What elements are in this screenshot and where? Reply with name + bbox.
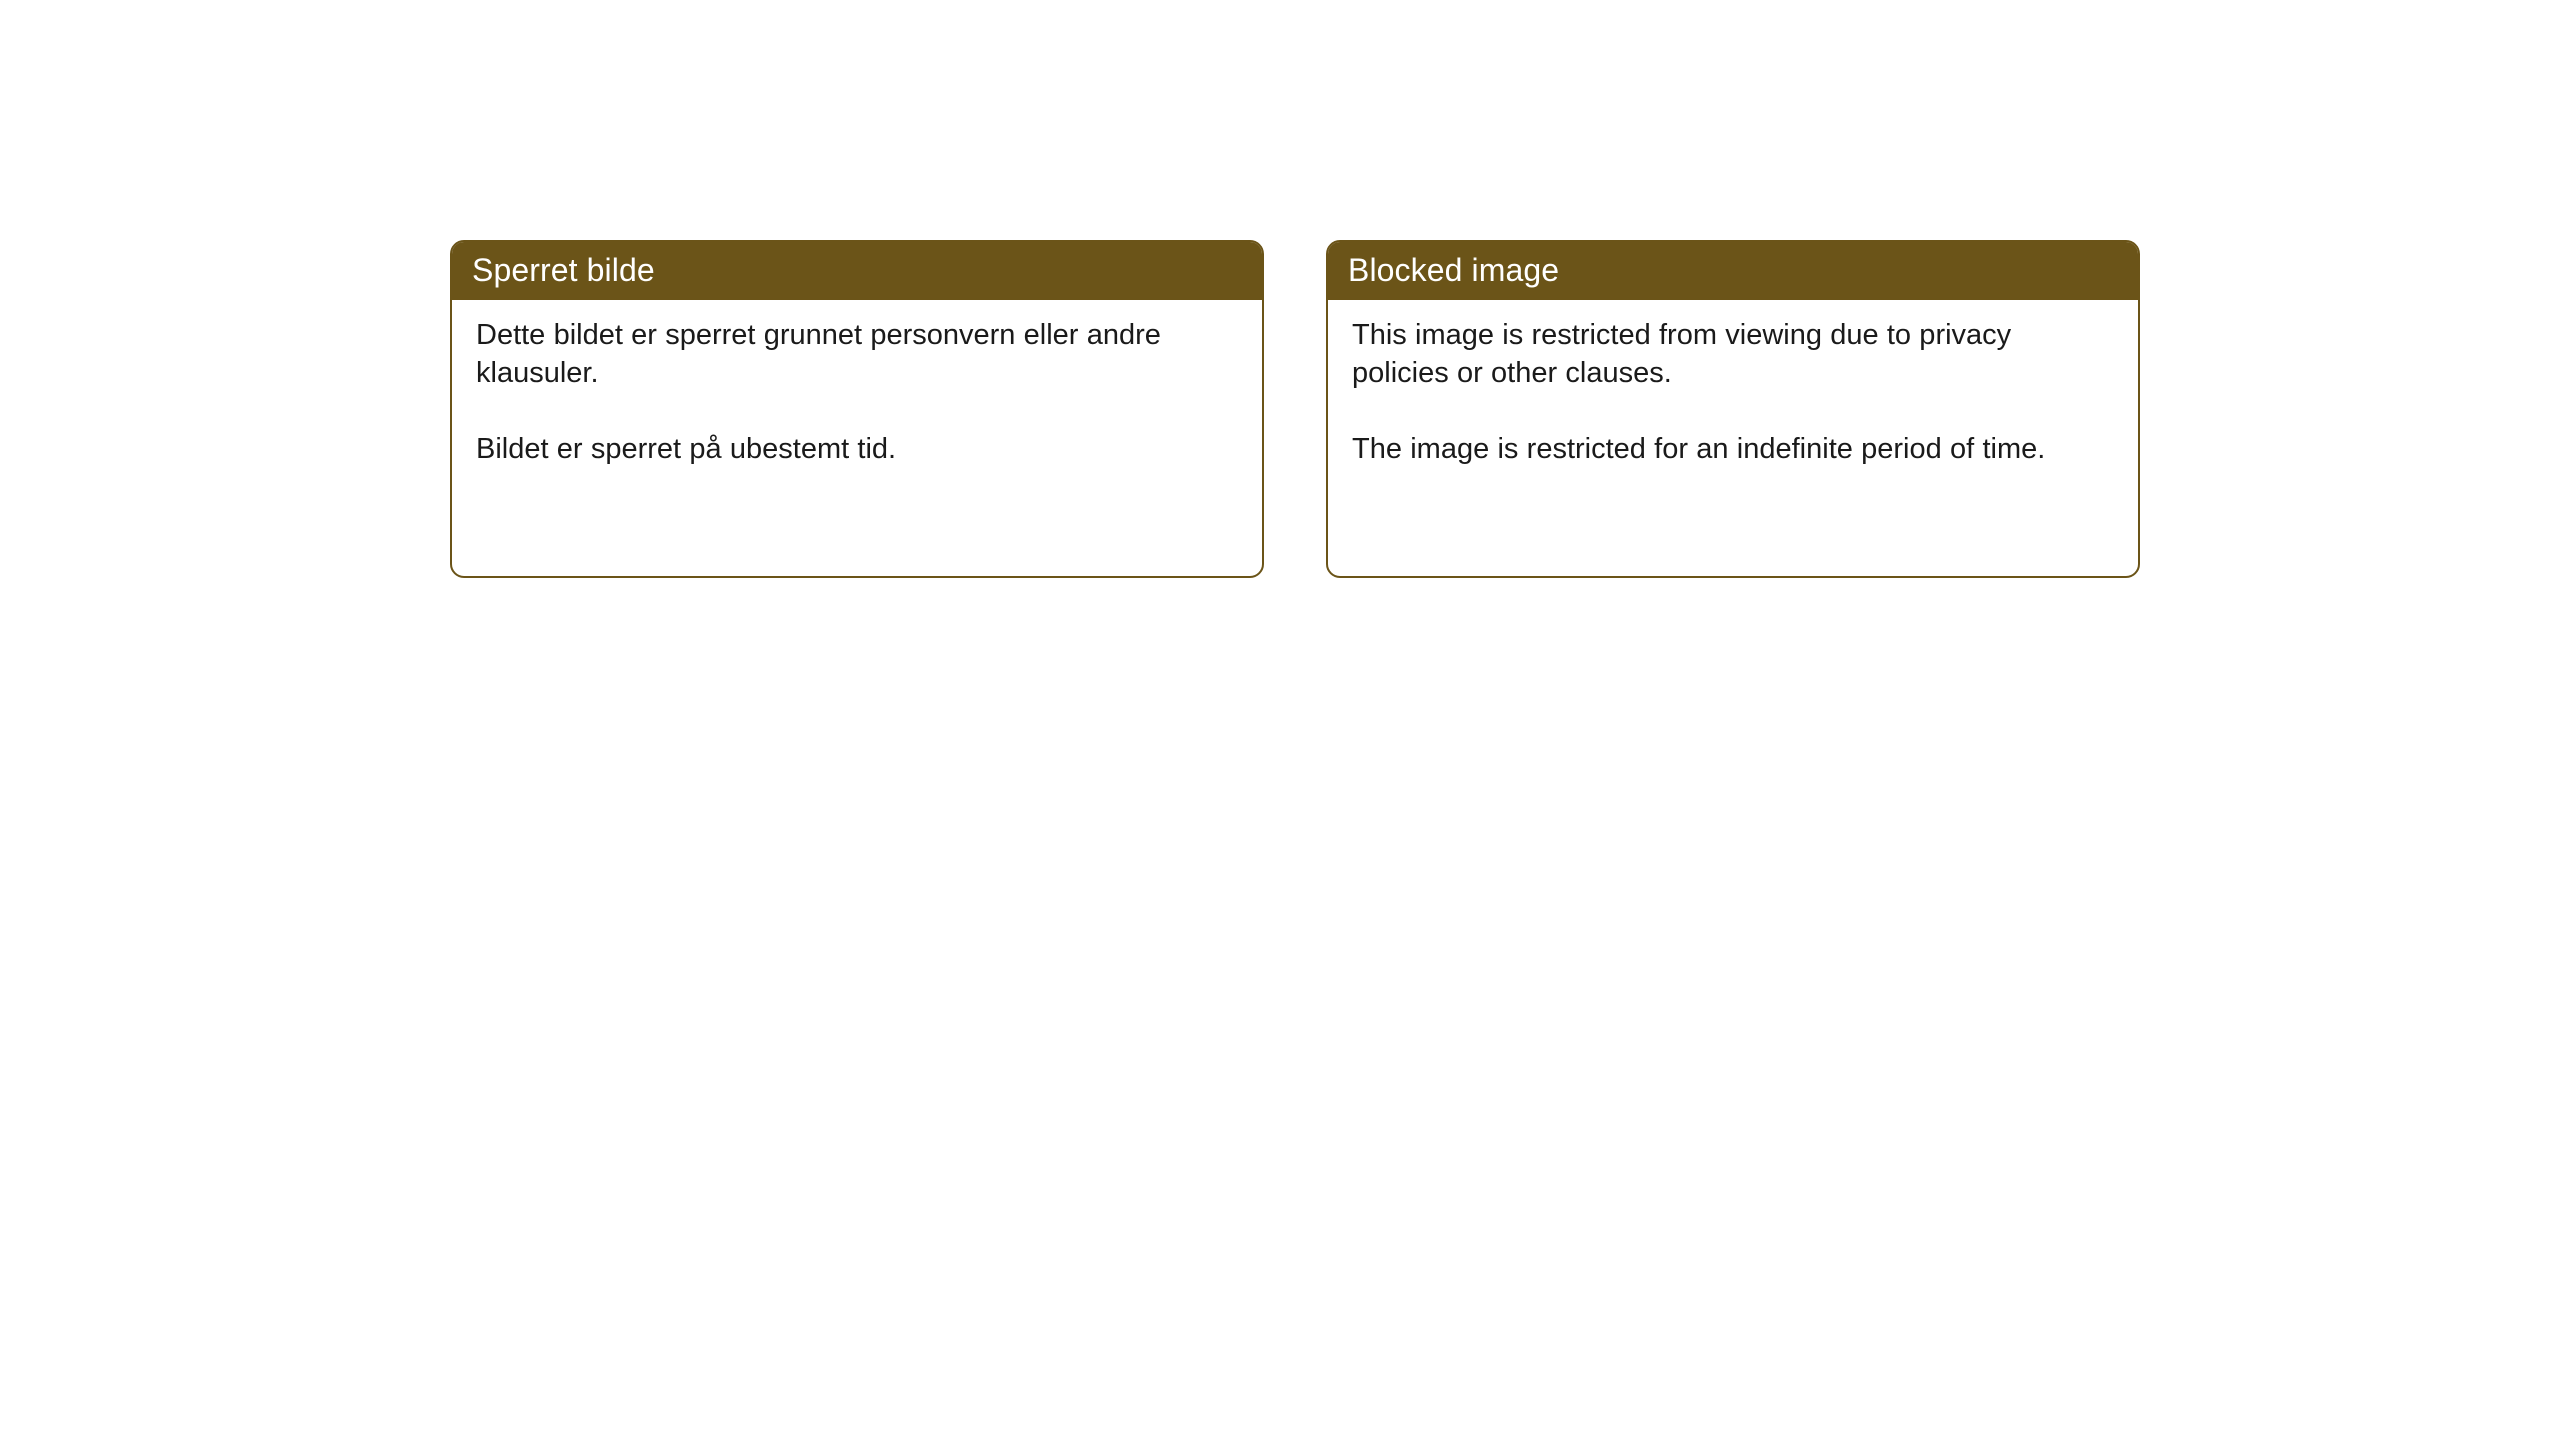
- blocked-image-notice-card-no: Sperret bilde Dette bildet er sperret gr…: [450, 240, 1264, 578]
- card-paragraph-en-2: The image is restricted for an indefinit…: [1352, 430, 2062, 468]
- page-canvas: Sperret bilde Dette bildet er sperret gr…: [0, 0, 2560, 1440]
- card-title-no: Sperret bilde: [472, 252, 655, 288]
- card-header-no: Sperret bilde: [450, 240, 1264, 300]
- card-title-en: Blocked image: [1348, 252, 1559, 288]
- card-paragraph-no-1: Dette bildet er sperret grunnet personve…: [476, 316, 1186, 392]
- card-body-no: Dette bildet er sperret grunnet personve…: [452, 300, 1262, 468]
- card-paragraph-no-2: Bildet er sperret på ubestemt tid.: [476, 430, 1186, 468]
- card-header-en: Blocked image: [1326, 240, 2140, 300]
- card-body-en: This image is restricted from viewing du…: [1328, 300, 2138, 468]
- blocked-image-notice-card-en: Blocked image This image is restricted f…: [1326, 240, 2140, 578]
- card-paragraph-en-1: This image is restricted from viewing du…: [1352, 316, 2062, 392]
